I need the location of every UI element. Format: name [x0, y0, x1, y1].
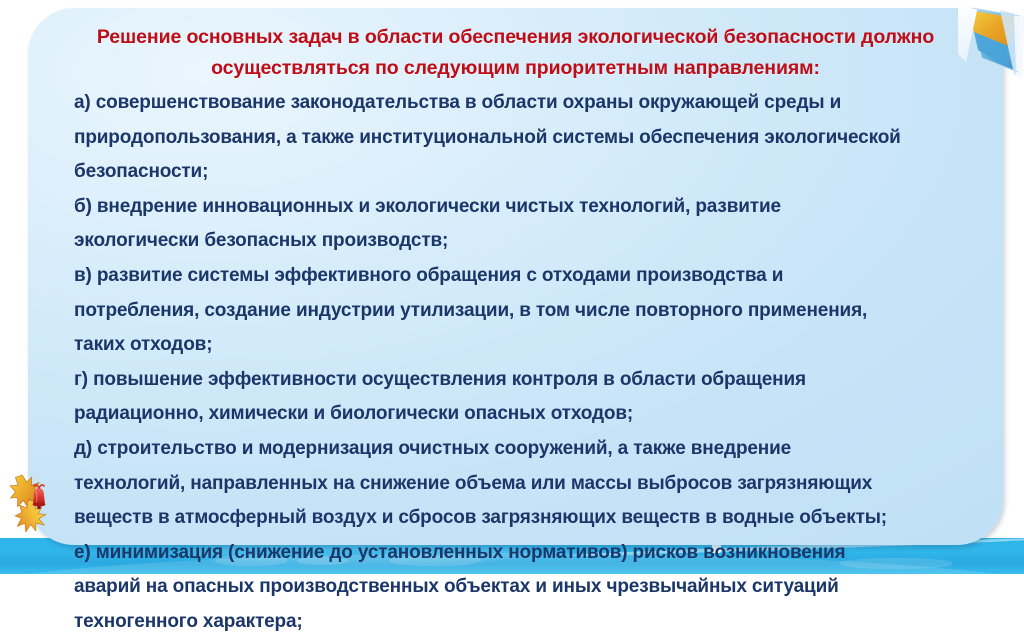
list-item-line: а) совершенствование законодательства в …	[74, 86, 957, 121]
list-item-line: радиационно, химически и биологически оп…	[74, 397, 957, 432]
list-item-line: технологий, направленных на снижение объ…	[74, 467, 957, 502]
content-card: Решение основных задач в области обеспеч…	[28, 8, 1003, 545]
page-title-line-2: осуществляться по следующим приоритетным…	[74, 53, 957, 84]
list-item-line: в) развитие системы эффективного обращен…	[74, 259, 957, 294]
list-item: е) минимизация (снижение до установленны…	[74, 536, 957, 640]
list-item-line: веществ в атмосферный воздух и сбросов з…	[74, 501, 957, 536]
slide-canvas: Решение основных задач в области обеспеч…	[0, 0, 1024, 574]
list-item-line: экологически безопасных производств;	[74, 224, 957, 259]
priority-directions-list: а) совершенствование законодательства в …	[74, 86, 957, 640]
list-item: г) повышение эффективности осуществления…	[74, 363, 957, 432]
list-item-line: е) минимизация (снижение до установленны…	[74, 536, 957, 571]
list-item-line: природопользования, а также институциона…	[74, 121, 957, 156]
list-item: а) совершенствование законодательства в …	[74, 86, 957, 190]
list-item-line: б) внедрение инновационных и экологическ…	[74, 190, 957, 225]
content-card-inner: Решение основных задач в области обеспеч…	[74, 22, 957, 535]
list-item-line: безопасности;	[74, 155, 957, 190]
list-item: б) внедрение инновационных и экологическ…	[74, 190, 957, 259]
page-title: Решение основных задач в области обеспеч…	[74, 22, 957, 84]
list-item-line: потребления, создание индустрии утилизац…	[74, 294, 957, 329]
list-item: д) строительство и модернизация очистных…	[74, 432, 957, 536]
list-item: в) развитие системы эффективного обращен…	[74, 259, 957, 363]
page-title-line-1: Решение основных задач в области обеспеч…	[74, 22, 957, 53]
list-item-line: г) повышение эффективности осуществления…	[74, 363, 957, 398]
list-item-line: д) строительство и модернизация очистных…	[74, 432, 957, 467]
list-item-line: таких отходов;	[74, 328, 957, 363]
list-item-line: аварий на опасных производственных объек…	[74, 570, 957, 605]
list-item-line: техногенного характера;	[74, 605, 957, 640]
